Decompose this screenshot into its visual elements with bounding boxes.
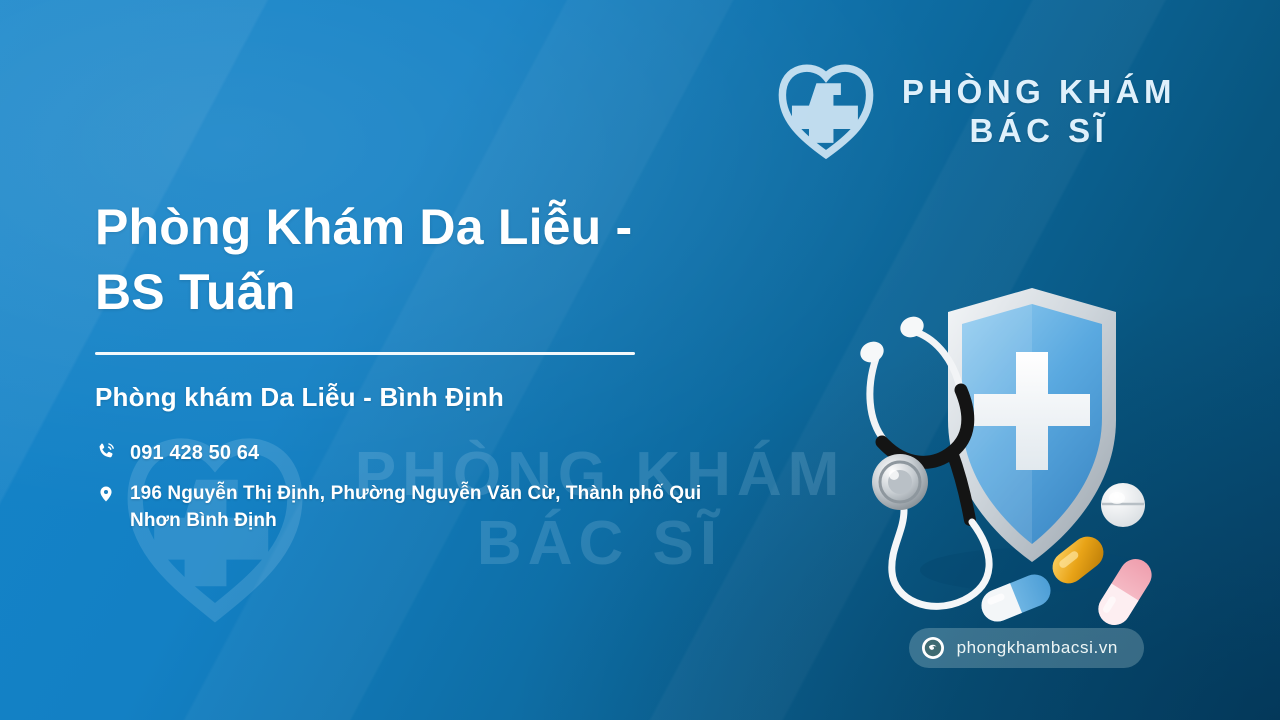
contact-row-phone[interactable]: 091 428 50 64 [95,439,715,467]
banner-canvas: PHÒNG KHÁM BÁC SĨ PHÒNG KHÁM BÁC SĨ Phòn… [0,0,1280,720]
page-title: Phòng Khám Da Liễu - BS Tuấn [95,195,715,325]
phone-call-icon [95,439,117,463]
website-url: phongkhambacsi.vn [957,638,1118,658]
brand-line-2: BÁC SĨ [902,112,1176,151]
contact-list: 091 428 50 64 196 Nguyễn Thị Định, Phườn… [95,439,715,534]
brand-logo: PHÒNG KHÁM BÁC SĨ [772,62,1176,162]
clinic-address: 196 Nguyễn Thị Định, Phường Nguyễn Văn C… [130,481,715,534]
medical-illustration [820,270,1200,630]
globe-icon [921,636,945,660]
clinic-subtitle: Phòng khám Da Liễu - Bình Định [95,382,715,413]
title-divider [95,352,635,355]
clinic-heart-cross-logo-icon [772,62,880,162]
brand-line-1: PHÒNG KHÁM [902,73,1176,112]
contact-row-address[interactable]: 196 Nguyễn Thị Định, Phường Nguyễn Văn C… [95,481,715,534]
map-pin-icon [95,481,117,505]
medical-shield-stethoscope-pills-icon [820,270,1200,630]
website-badge[interactable]: phongkhambacsi.vn [909,628,1144,668]
clinic-info-block: Phòng Khám Da Liễu - BS Tuấn Phòng khám … [95,195,715,534]
phone-number: 091 428 50 64 [130,439,259,467]
